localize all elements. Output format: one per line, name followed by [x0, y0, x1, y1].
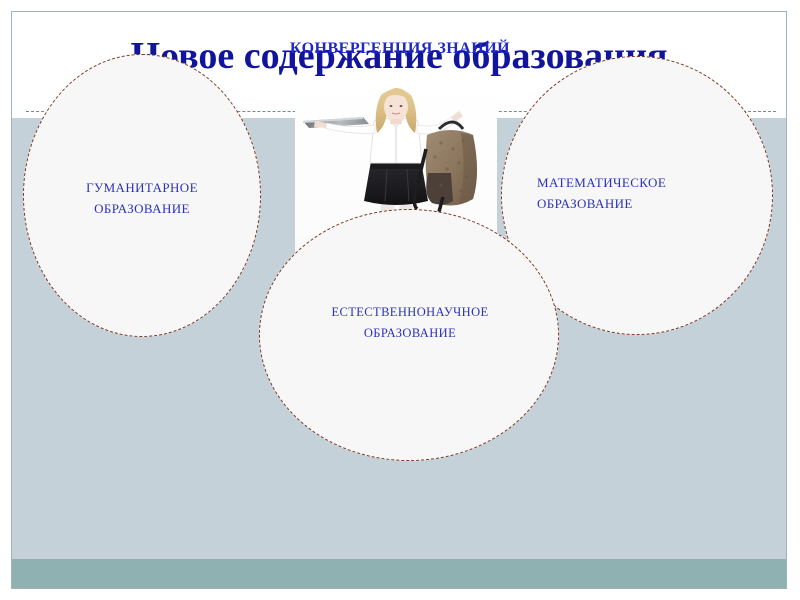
slide-frame: Новое содержание образования [11, 11, 787, 589]
label-mathematics: МАТЕМАТИЧЕСКОЕ ОБРАЗОВАНИЕ [537, 172, 747, 214]
label-mathematics-line2: ОБРАЗОВАНИЕ [537, 193, 747, 214]
venn-diagram: КОНВЕРГЕНЦИЯ ЗНАНИЙ ГУМАНИТАРНОЕ ОБРАЗОВ… [12, 12, 787, 589]
label-natural-science: ЕСТЕСТВЕННОНАУЧНОЕ ОБРАЗОВАНИЕ [274, 302, 546, 344]
label-humanities-line2: ОБРАЗОВАНИЕ [42, 198, 242, 219]
slide-canvas: Новое содержание образования [0, 0, 800, 600]
label-natural-science-line2: ОБРАЗОВАНИЕ [274, 323, 546, 344]
label-natural-science-line1: ЕСТЕСТВЕННОНАУЧНОЕ [274, 302, 546, 323]
label-mathematics-line1: МАТЕМАТИЧЕСКОЕ [537, 172, 747, 193]
label-humanities: ГУМАНИТАРНОЕ ОБРАЗОВАНИЕ [42, 177, 242, 219]
center-heading: КОНВЕРГЕНЦИЯ ЗНАНИЙ [200, 40, 600, 58]
label-humanities-line1: ГУМАНИТАРНОЕ [42, 177, 242, 198]
